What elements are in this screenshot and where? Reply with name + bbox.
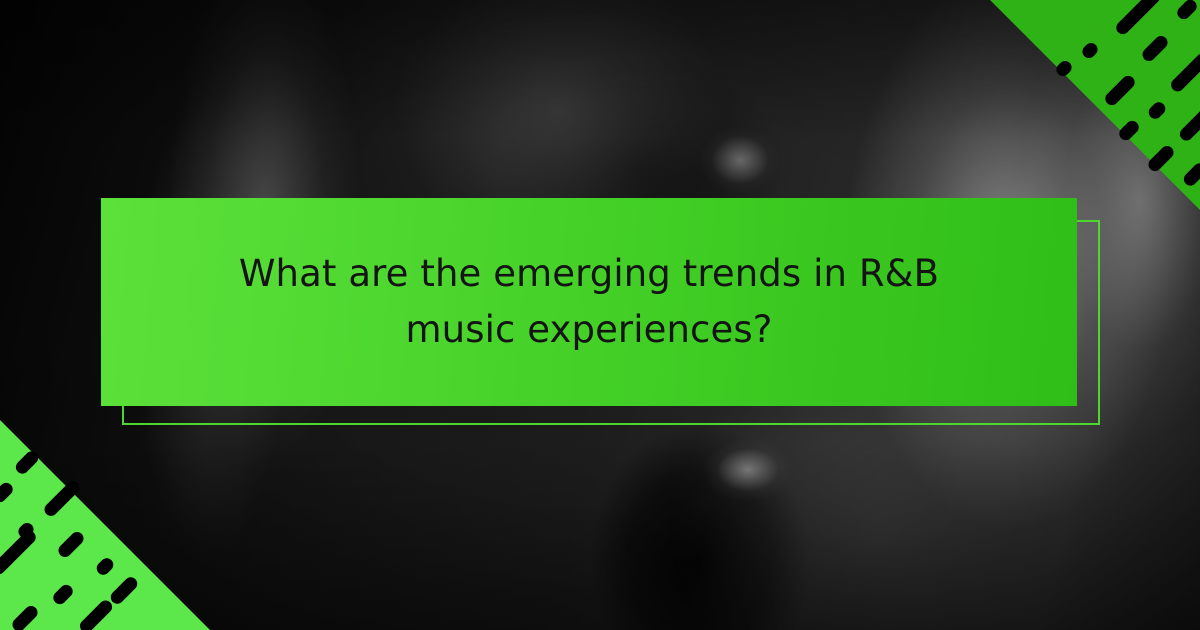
question-card: What are the emerging trends in R&B musi… [101,198,1077,406]
question-text: What are the emerging trends in R&B musi… [179,246,999,358]
question-card-stage: What are the emerging trends in R&B musi… [0,0,1200,630]
